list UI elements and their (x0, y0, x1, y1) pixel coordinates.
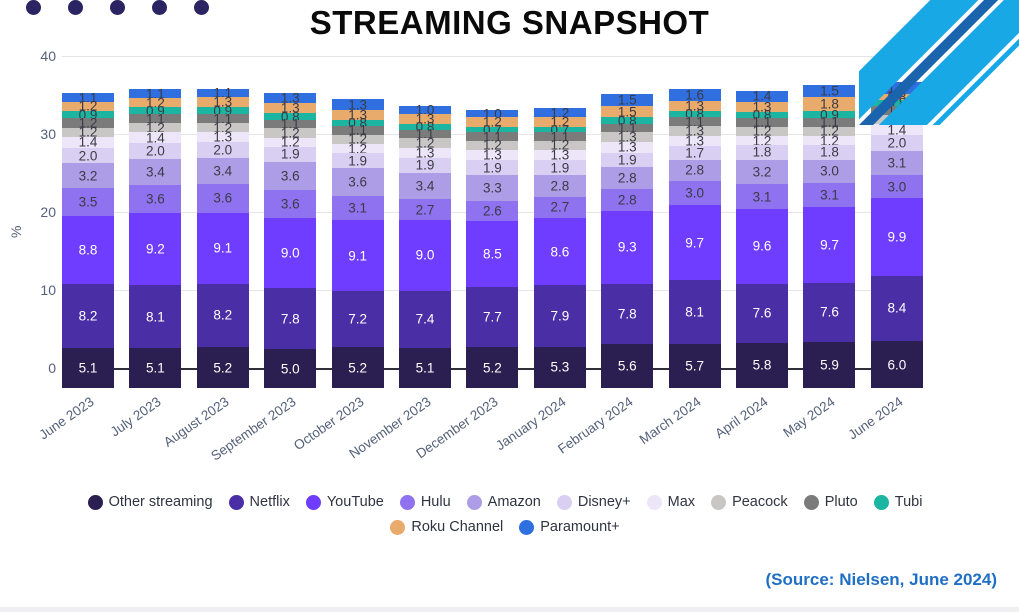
legend-row-secondary: Roku ChannelParamount+ (0, 519, 1019, 535)
bar-segment-value: 3.6 (197, 192, 249, 206)
bar-segment-value: 2.8 (534, 179, 586, 193)
legend-swatch-icon (804, 495, 819, 510)
bar-segment[interactable]: 3.1 (736, 184, 788, 208)
bar-segment-value: 3.4 (197, 164, 249, 178)
bar-segment[interactable]: 8.4 (871, 276, 923, 342)
bar-segment[interactable]: 1.9 (534, 160, 586, 175)
bar-segment-value: 1.9 (332, 154, 384, 168)
legend-label: Paramount+ (540, 519, 619, 535)
bar-segment[interactable]: 1.4 (129, 132, 181, 143)
bar-segment[interactable]: 8.2 (62, 284, 114, 348)
bar-segment-value: 3.1 (332, 201, 384, 215)
bar-segment[interactable]: 5.2 (466, 347, 518, 388)
legend-item[interactable]: Peacock (711, 494, 788, 510)
legend-item[interactable]: Disney+ (557, 494, 631, 510)
x-axis-label: June 2023 (36, 394, 96, 442)
bar-segment[interactable]: 9.9 (871, 198, 923, 275)
bar-segment[interactable]: 8.1 (129, 285, 181, 348)
bar-segment[interactable]: 1.4 (871, 124, 923, 135)
bar-segment-value: 3.4 (399, 179, 451, 193)
bar-segment[interactable]: 1.3 (466, 150, 518, 160)
bar-segment-value: 9.7 (669, 236, 721, 250)
legend-label: Pluto (825, 494, 858, 510)
bar-segment[interactable]: 1.3 (399, 148, 451, 158)
bar-segment-value: 5.3 (534, 361, 586, 375)
legend-swatch-icon (711, 495, 726, 510)
bar-segment-value: 3.1 (803, 188, 855, 202)
bar-segment[interactable]: 9.3 (601, 211, 653, 284)
bar-segment[interactable]: 1.8 (736, 145, 788, 159)
bar-segment-value: 8.2 (62, 310, 114, 324)
bar-segment-value: 3.0 (803, 164, 855, 178)
bar-segment[interactable]: 5.1 (129, 348, 181, 388)
bar-segment-value: 8.5 (466, 248, 518, 262)
legend-item[interactable]: Hulu (400, 494, 451, 510)
bar-segment[interactable]: 7.6 (736, 284, 788, 343)
legend-swatch-icon (229, 495, 244, 510)
bar-segment[interactable]: 5.9 (803, 342, 855, 388)
legend-label: Amazon (488, 494, 541, 510)
bar-segment[interactable]: 2.0 (129, 143, 181, 159)
bar-segment[interactable]: 3.4 (129, 159, 181, 186)
legend-item[interactable]: Max (647, 494, 695, 510)
chart-legend: Other streamingNetflixYouTubeHuluAmazonD… (0, 494, 1019, 544)
bar-segment-value: 5.7 (669, 359, 721, 373)
bar-segment-value: 7.6 (803, 306, 855, 320)
bar-segment[interactable]: 5.2 (332, 347, 384, 388)
bar-segment-value: 9.1 (332, 249, 384, 263)
bar-segment[interactable]: 2.8 (601, 189, 653, 211)
page-title: STREAMING SNAPSHOT (0, 4, 1019, 42)
bar-segment[interactable]: 9.7 (669, 205, 721, 281)
bar-segment-value: 9.1 (197, 241, 249, 255)
legend-row-primary: Other streamingNetflixYouTubeHuluAmazonD… (0, 494, 1019, 510)
bar-segment-value: 1.7 (669, 146, 721, 160)
x-axis-label: April 2024 (712, 394, 770, 441)
bar-segment-value: 1.9 (601, 153, 653, 167)
bar-column[interactable]: 1.51.80.91.11.21.21.83.03.19.77.65.9 (803, 76, 855, 388)
bar-segment-value: 3.6 (332, 175, 384, 189)
legend-swatch-icon (306, 495, 321, 510)
bar-segment-value: 8.4 (871, 302, 923, 316)
bar-segment[interactable]: 5.0 (264, 349, 316, 388)
x-axis-label: May 2024 (781, 394, 838, 440)
bar-segment-value: 3.0 (871, 180, 923, 194)
bar-segment[interactable]: 9.0 (264, 218, 316, 288)
bar-segment[interactable]: 9.1 (332, 220, 384, 291)
bar-segment[interactable]: 7.4 (399, 291, 451, 349)
bar-segment[interactable]: 7.9 (534, 285, 586, 347)
bar-segment[interactable]: 2.0 (871, 135, 923, 151)
bar-segment-value: 2.0 (197, 143, 249, 157)
bar-segment[interactable]: 8.5 (466, 221, 518, 287)
bar-segment[interactable]: 8.1 (669, 280, 721, 343)
bar-segment-value: 3.3 (466, 181, 518, 195)
bar-segment[interactable]: 3.2 (62, 163, 114, 188)
bar-column[interactable]: 1.11.30.91.11.21.32.03.43.69.18.25.2 (197, 76, 249, 388)
bar-segment-value: 5.2 (197, 361, 249, 375)
bar-column[interactable]: 1.01.20.71.11.21.31.93.32.68.57.75.2 (466, 76, 518, 388)
bar-segment-value: 3.2 (736, 165, 788, 179)
bar-segment-value: 3.6 (264, 197, 316, 211)
bar-segment[interactable]: 2.8 (601, 167, 653, 189)
y-axis-tick-label: 10 (30, 282, 56, 298)
bar-segment[interactable]: 3.0 (871, 175, 923, 198)
bar-segment[interactable]: 9.6 (736, 209, 788, 284)
bar-segment[interactable]: 1.5 (803, 85, 855, 97)
legend-swatch-icon (557, 495, 572, 510)
bar-segment-value: 2.8 (669, 164, 721, 178)
bar-segment[interactable]: 3.0 (803, 160, 855, 183)
bar-segment-value: 8.2 (197, 309, 249, 323)
bar-segment[interactable]: 1.4 (62, 137, 114, 148)
bar-column[interactable]: 1.41.30.81.11.21.21.83.23.19.67.65.8 (736, 76, 788, 388)
bottom-rule (0, 607, 1019, 612)
bar-segment[interactable]: 1.9 (601, 153, 653, 168)
y-axis-tick-label: 0 (30, 360, 56, 376)
bar-segment[interactable]: 1.3 (197, 132, 249, 142)
bar-segment[interactable]: 3.6 (264, 162, 316, 190)
bar-segment[interactable]: 1.2 (264, 138, 316, 147)
legend-label: Roku Channel (411, 519, 503, 535)
legend-swatch-icon (519, 520, 534, 535)
bar-segment-value: 7.8 (601, 307, 653, 321)
bar-segment-value: 5.1 (62, 361, 114, 375)
legend-item[interactable]: Netflix (229, 494, 290, 510)
bar-column[interactable]: 1.01.30.81.11.21.31.93.42.79.07.45.1 (399, 76, 451, 388)
bar-segment[interactable]: 3.4 (197, 158, 249, 185)
bar-segment-value: 3.1 (736, 190, 788, 204)
bar-segment[interactable]: 5.8 (736, 343, 788, 388)
bar-segment[interactable]: 5.1 (62, 348, 114, 388)
x-axis-label: July 2023 (108, 394, 164, 439)
bar-segment[interactable]: 2.7 (534, 197, 586, 218)
legend-swatch-icon (88, 495, 103, 510)
bar-segment[interactable]: 3.1 (871, 151, 923, 175)
legend-label: Max (668, 494, 695, 510)
bar-segment[interactable]: 2.8 (669, 160, 721, 182)
legend-item[interactable]: Tubi (874, 494, 923, 510)
bar-column[interactable]: 1.51.50.81.11.31.31.92.82.89.37.85.6 (601, 76, 653, 388)
bar-segment[interactable]: 8.6 (534, 218, 586, 285)
bar-plot: 1.11.20.91.21.21.42.03.23.58.88.25.11.11… (62, 56, 923, 388)
x-axis-label-slot: April 2024 (736, 392, 788, 472)
legend-swatch-icon (874, 495, 889, 510)
bar-segment[interactable]: 7.2 (332, 291, 384, 347)
bar-segment-value: 1.9 (466, 161, 518, 175)
x-axis-label-slot: March 2024 (669, 392, 721, 472)
x-axis-labels: June 2023July 2023August 2023September 2… (62, 392, 923, 472)
bar-segment-value: 2.0 (62, 149, 114, 163)
y-axis-title: % (8, 226, 24, 238)
bar-segment-value: 9.3 (601, 240, 653, 254)
bar-segment-value: 5.6 (601, 359, 653, 373)
x-axis-label-slot: June 2024 (871, 392, 923, 472)
bar-segment[interactable]: 7.8 (264, 288, 316, 349)
bar-segment[interactable]: 3.6 (332, 168, 384, 196)
bar-segment[interactable]: 3.6 (197, 184, 249, 212)
bar-segment-value: 7.6 (736, 306, 788, 320)
bar-segment[interactable]: 2.8 (534, 175, 586, 197)
bar-segment[interactable]: 9.1 (197, 213, 249, 284)
bar-segment[interactable]: 3.4 (399, 173, 451, 200)
bar-segment-value: 3.4 (129, 165, 181, 179)
bar-segment[interactable]: 9.0 (399, 220, 451, 290)
bar-segment[interactable]: 3.3 (466, 175, 518, 201)
bar-segment[interactable]: 2.0 (197, 142, 249, 158)
bar-segment[interactable]: 5.6 (601, 344, 653, 388)
bar-segment-value: 3.5 (62, 195, 114, 209)
bar-segment-value: 7.8 (264, 312, 316, 326)
x-axis-label-slot: June 2023 (62, 392, 114, 472)
bar-segment[interactable]: 7.8 (601, 284, 653, 345)
bar-segment[interactable]: 8.8 (62, 216, 114, 285)
bar-column[interactable]: 1.31.30.81.11.21.21.93.63.69.07.85.0 (264, 76, 316, 388)
y-axis-tick-label: 30 (30, 126, 56, 142)
bar-segment[interactable]: 1.3 (601, 142, 653, 152)
bar-segment-value: 3.1 (871, 156, 923, 170)
legend-label: Peacock (732, 494, 788, 510)
bar-segment-value: 5.1 (129, 361, 181, 375)
bar-segment[interactable]: 2.0 (62, 148, 114, 164)
bar-segment-value: 9.9 (871, 230, 923, 244)
bar-segment-value: 2.7 (399, 203, 451, 217)
bar-segment-value: 9.7 (803, 238, 855, 252)
bar-segment[interactable]: 5.2 (197, 347, 249, 388)
bar-segment-value: 9.0 (399, 249, 451, 263)
bar-segment-value: 2.0 (129, 144, 181, 158)
bar-segment-value: 9.6 (736, 239, 788, 253)
bar-segment-value: 3.6 (129, 193, 181, 207)
bar-segment[interactable]: 9.2 (129, 213, 181, 285)
bar-segment-value: 3.6 (264, 169, 316, 183)
bar-segment[interactable]: 9.7 (803, 207, 855, 283)
legend-label: Netflix (250, 494, 290, 510)
bar-segment[interactable]: 1.2 (332, 144, 384, 153)
legend-label: YouTube (327, 494, 384, 510)
bar-segment[interactable]: 2.7 (399, 199, 451, 220)
bar-segment[interactable]: 7.7 (466, 287, 518, 347)
bar-segment-value: 5.8 (736, 359, 788, 373)
bar-segment-value: 5.2 (466, 361, 518, 375)
bar-segment[interactable]: 8.2 (197, 284, 249, 348)
bar-segment[interactable]: 1.7 (669, 146, 721, 159)
bar-segment-value: 1.9 (399, 159, 451, 173)
bar-segment-value: 8.6 (534, 245, 586, 259)
bar-segment-value: 5.0 (264, 362, 316, 376)
bar-segment-value: 5.1 (399, 361, 451, 375)
bar-segment[interactable]: 1.9 (332, 153, 384, 168)
bar-segment-value: 1.9 (264, 148, 316, 162)
bar-segment-value: 8.8 (62, 243, 114, 257)
bar-segment[interactable]: 3.1 (803, 183, 855, 207)
bar-segment-value: 2.6 (466, 204, 518, 218)
legend-swatch-icon (647, 495, 662, 510)
bar-segment[interactable]: 5.7 (669, 344, 721, 388)
legend-swatch-icon (400, 495, 415, 510)
bar-segment[interactable]: 3.1 (332, 196, 384, 220)
y-axis-tick-label: 20 (30, 204, 56, 220)
bar-segment-value: 5.2 (332, 361, 384, 375)
bar-segment-value: 2.0 (871, 136, 923, 150)
legend-item[interactable]: Amazon (467, 494, 541, 510)
bar-segment[interactable]: 2.6 (466, 201, 518, 221)
bar-segment[interactable]: 3.2 (736, 160, 788, 185)
bar-segment[interactable]: 1.9 (466, 160, 518, 175)
legend-item[interactable]: Paramount+ (519, 519, 619, 535)
legend-item[interactable]: YouTube (306, 494, 384, 510)
bar-column[interactable]: 1.31.30.81.11.21.21.93.63.19.17.25.2 (332, 76, 384, 388)
bar-segment-value: 1.8 (803, 146, 855, 160)
bar-segment-value: 9.0 (264, 246, 316, 260)
legend-item[interactable]: Other streaming (88, 494, 213, 510)
bar-segment[interactable]: 3.6 (264, 190, 316, 218)
bar-segment[interactable]: 5.3 (534, 347, 586, 388)
source-note: (Source: Nielsen, June 2024) (766, 570, 997, 590)
bar-segment[interactable]: 3.6 (129, 185, 181, 213)
bar-column[interactable]: 1.21.20.71.11.21.31.92.82.78.67.95.3 (534, 76, 586, 388)
bar-segment[interactable]: 1.9 (399, 158, 451, 173)
legend-label: Hulu (421, 494, 451, 510)
bar-segment-value: 7.2 (332, 313, 384, 327)
bar-segment[interactable]: 6.0 (871, 341, 923, 388)
bar-segment-value: 7.9 (534, 309, 586, 323)
bar-segment[interactable]: 5.1 (399, 348, 451, 388)
bar-segment-value: 9.2 (129, 242, 181, 256)
legend-label: Disney+ (578, 494, 631, 510)
bar-column[interactable]: 1.11.20.91.11.21.42.03.43.69.28.15.1 (129, 76, 181, 388)
legend-label: Other streaming (109, 494, 213, 510)
y-axis-tick-label: 40 (30, 48, 56, 64)
bar-segment-value: 7.4 (399, 313, 451, 327)
bar-segment-value: 2.7 (534, 201, 586, 215)
legend-item[interactable]: Pluto (804, 494, 858, 510)
bar-segment-value: 2.8 (601, 193, 653, 207)
bar-segment[interactable]: 1.3 (534, 150, 586, 160)
bar-segment[interactable]: 1.9 (264, 147, 316, 162)
bar-column[interactable]: 1.11.20.91.21.21.42.03.23.58.88.25.1 (62, 76, 114, 388)
legend-label: Tubi (895, 494, 923, 510)
bar-segment-value: 3.2 (62, 169, 114, 183)
legend-swatch-icon (390, 520, 405, 535)
bar-segment-value: 8.1 (129, 310, 181, 324)
bar-segment-value: 2.8 (601, 171, 653, 185)
bar-segment-value: 6.0 (871, 358, 923, 372)
bar-segment-value: 3.0 (669, 186, 721, 200)
bar-segment-value: 1.8 (736, 146, 788, 160)
bar-column[interactable]: 1.61.30.81.11.31.31.72.83.09.78.15.7 (669, 76, 721, 388)
bar-segment[interactable]: 3.0 (669, 181, 721, 204)
bar-segment-value: 1.9 (534, 161, 586, 175)
bar-segment[interactable]: 7.6 (803, 283, 855, 342)
bar-segment-value: 5.9 (803, 358, 855, 372)
bar-segment[interactable]: 1.8 (803, 145, 855, 159)
bar-segment-value: 7.7 (466, 311, 518, 325)
legend-item[interactable]: Roku Channel (390, 519, 503, 535)
bar-segment[interactable]: 3.5 (62, 188, 114, 215)
legend-swatch-icon (467, 495, 482, 510)
bar-segment-value: 8.1 (669, 305, 721, 319)
